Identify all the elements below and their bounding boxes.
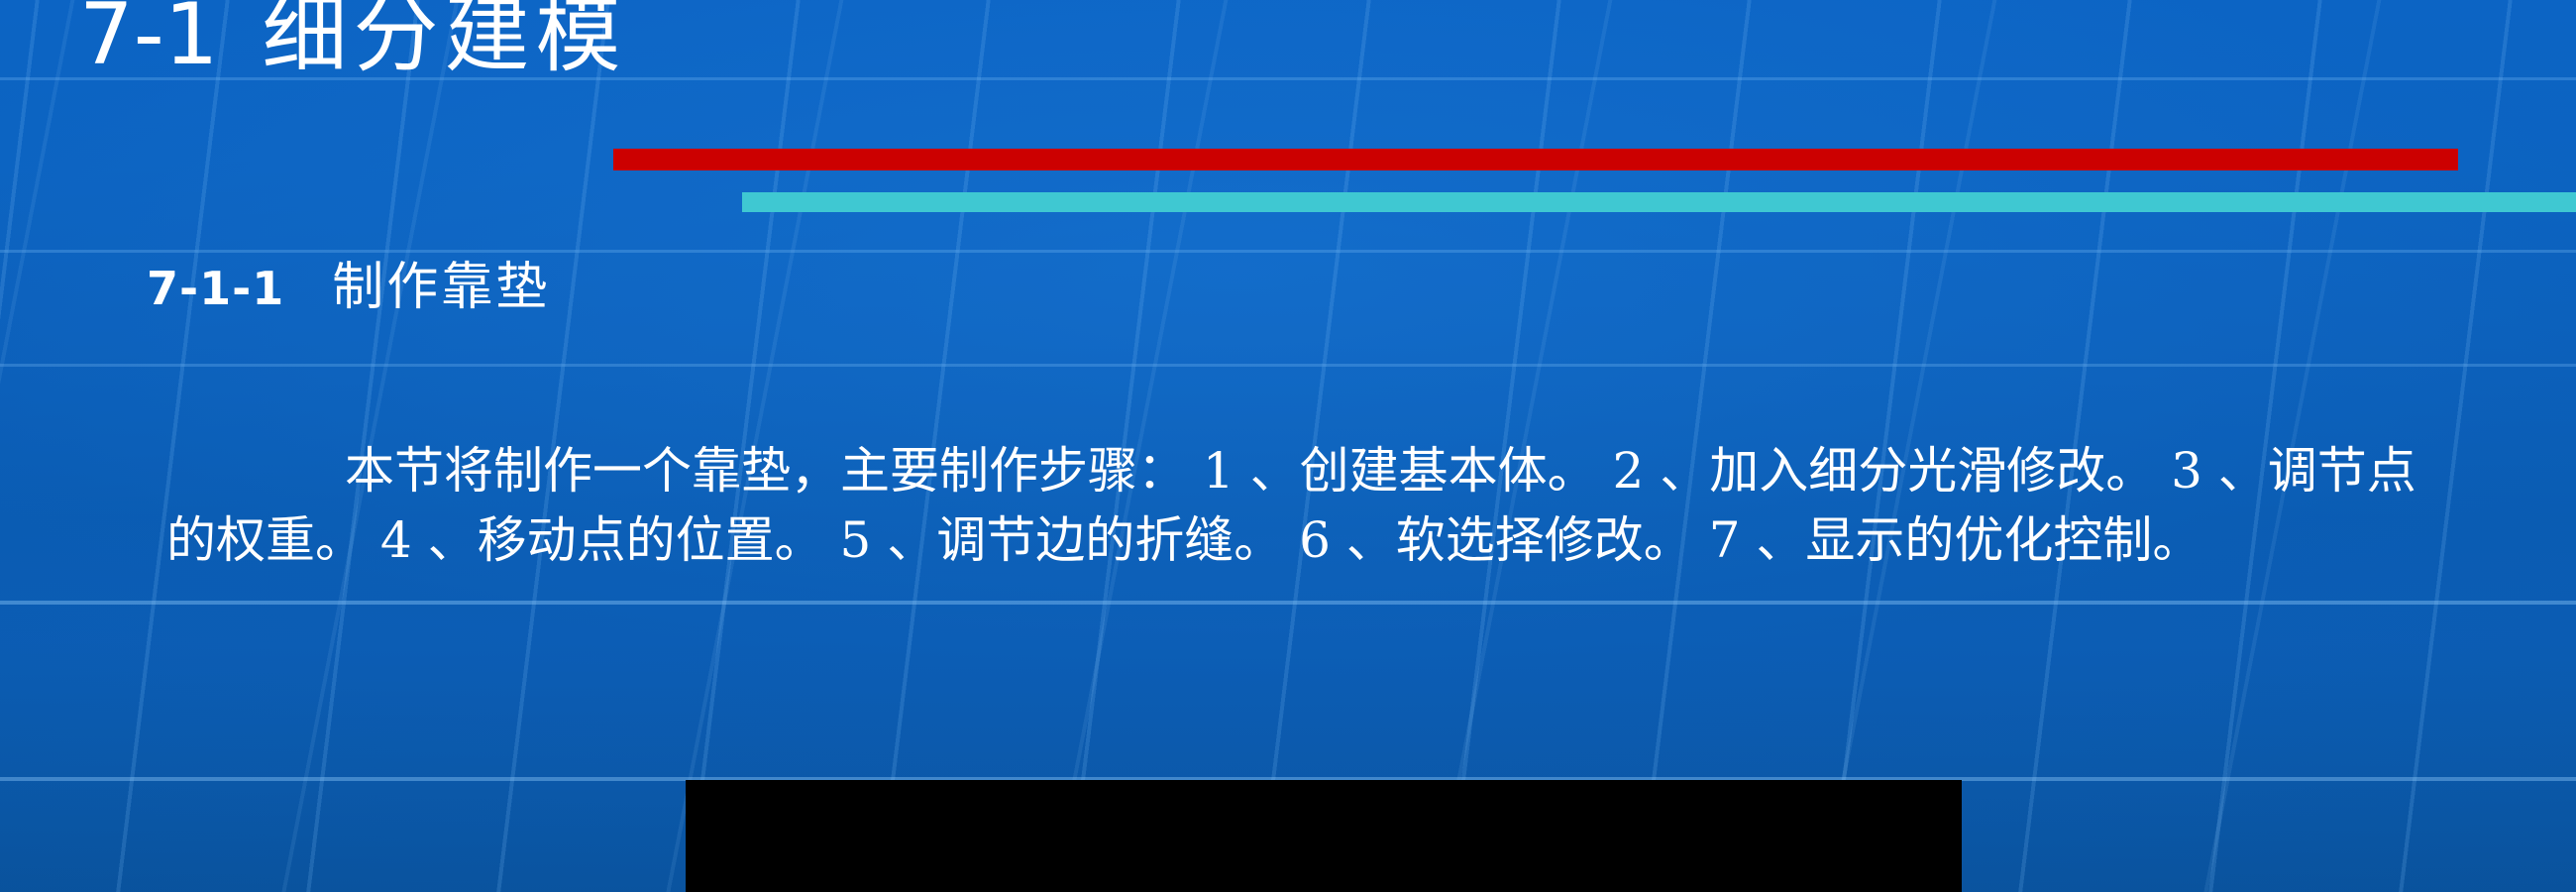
slide-title-text: 细分建模 xyxy=(262,0,626,84)
title-underline-teal-bar xyxy=(742,192,2576,212)
slide-subheading-text: 制作靠垫 xyxy=(332,258,550,317)
slide-title: 7-1细分建模 xyxy=(79,0,626,89)
slide-body-paragraph: 本节将制作一个靠垫，主要制作步骤： 1 、创建基本体。 2 、加入细分光滑修改。… xyxy=(166,436,2465,575)
presentation-slide: 7-1细分建模 7-1-1制作靠垫 本节将制作一个靠垫，主要制作步骤： 1 、创… xyxy=(0,0,2576,892)
title-underline-red-bar xyxy=(613,149,2458,170)
paragraph-text: 本节将制作一个靠垫，主要制作步骤： 1 、创建基本体。 2 、加入细分光滑修改。… xyxy=(166,442,2416,569)
slide-subheading: 7-1-1制作靠垫 xyxy=(147,260,550,316)
slide-title-number: 7-1 xyxy=(79,0,218,84)
slide-subheading-number: 7-1-1 xyxy=(147,262,284,315)
background-grid-horizontal-line xyxy=(0,364,2576,367)
background-grid-horizontal-line xyxy=(0,601,2576,605)
background-grid-horizontal-line xyxy=(0,250,2576,253)
media-placeholder xyxy=(686,780,1962,892)
